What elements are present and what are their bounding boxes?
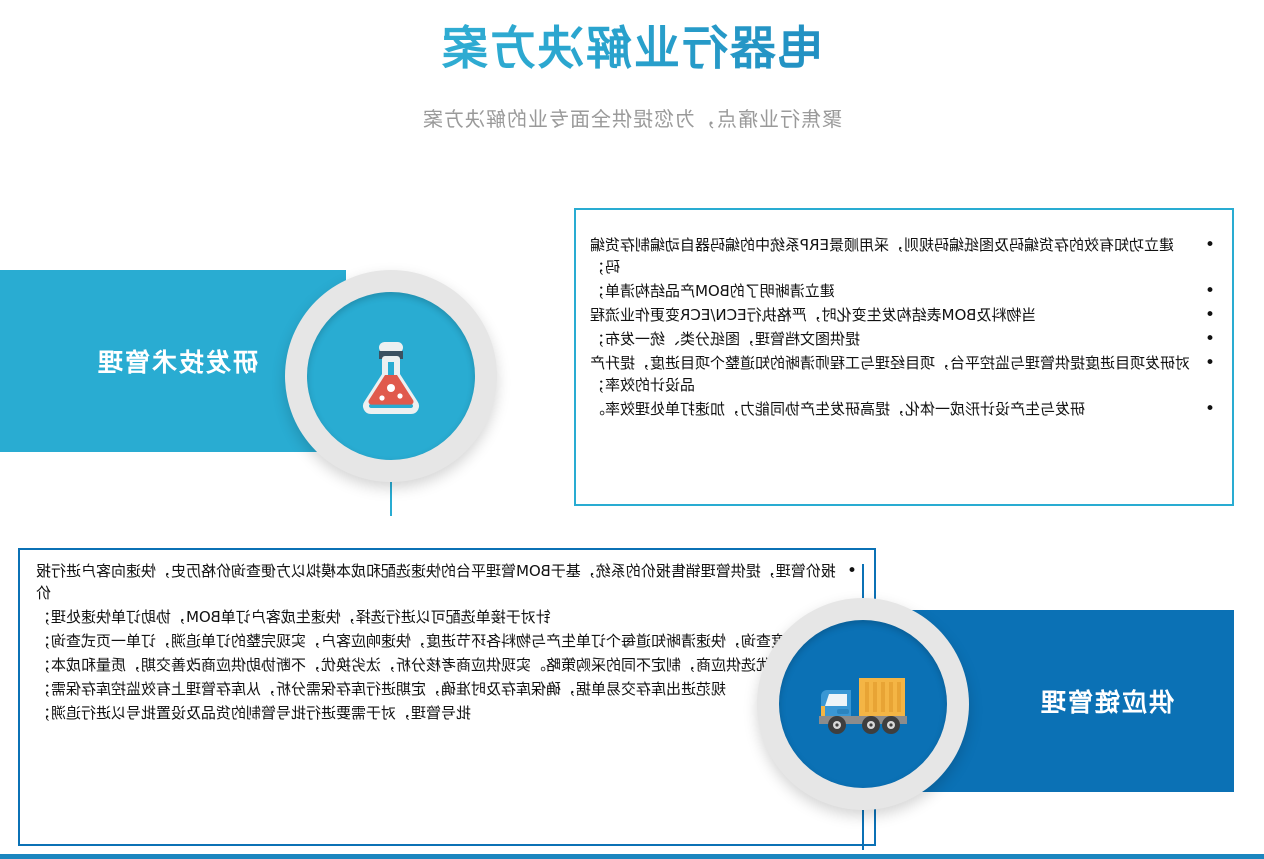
bullet-dot-icon: • bbox=[1202, 234, 1218, 256]
page-title: 电器行业解决方案 bbox=[0, 20, 1264, 78]
slide-canvas: 电器行业解决方案 聚焦行业痛点，为您提供全面专业的解决方案 • 建立功知有效的存… bbox=[0, 0, 1264, 859]
list-item: • 批号管理，对于需要进行批号管制的货品及设置批号以进行追溯； bbox=[36, 702, 860, 724]
list-item: • 针对于接单选配可以进行选择，快速生成客户订单BOM，协助订单快速处理； bbox=[36, 606, 860, 628]
bullet-dot-icon: • bbox=[1202, 398, 1218, 420]
section-label-supply-chain-management: 供应链管理 bbox=[1039, 683, 1174, 719]
truck-icon bbox=[813, 668, 913, 740]
section-label-rd-tech-management: 研发技术管理 bbox=[96, 343, 258, 379]
bullet-text: 针对于接单选配可以进行选择，快速生成客户订单BOM，协助订单快速处理； bbox=[36, 606, 844, 628]
section-medallion-rd-tech-management bbox=[285, 270, 497, 482]
list-item: • 规范进出库存交易单据，确保库存及时准确，定期进行库存保需分析，从库存管理上有… bbox=[36, 678, 860, 700]
connector-line-top bbox=[390, 482, 392, 516]
list-item: • 提供图文档管理，图纸分类、统一发布； bbox=[590, 328, 1218, 350]
bullet-text: 订单进度查询，快速清晰知道每个订单生产与物料各环节进度，快速响应客户，实现完整的… bbox=[36, 630, 844, 652]
bullet-dot-icon: • bbox=[1202, 328, 1218, 350]
bullet-dot-icon: • bbox=[1202, 304, 1218, 326]
bullet-dot-icon: • bbox=[1202, 280, 1218, 302]
footer-rule bbox=[0, 854, 1264, 859]
bullet-text: 规范进出库存交易单据，确保库存及时准确，定期进行库存保需分析，从库存管理上有效监… bbox=[36, 678, 844, 700]
connector-line-bottom-lower bbox=[862, 810, 864, 850]
section-medallion-supply-chain-management bbox=[757, 598, 969, 810]
list-item: • 订单进度查询，快速清晰知道每个订单生产与物料各环节进度，快速响应客户，实现完… bbox=[36, 630, 860, 652]
bullet-text: 提供图文档管理，图纸分类、统一发布； bbox=[590, 328, 1202, 350]
bullet-text: 当物料及BOM表结构发生变化时，严格执行ECN/ECR变更作业流程 bbox=[590, 304, 1202, 326]
bullet-dot-icon: • bbox=[844, 560, 860, 582]
page-subtitle: 聚焦行业痛点，为您提供全面专业的解决方案 bbox=[0, 103, 1264, 132]
bullet-dot-icon: • bbox=[1202, 352, 1218, 374]
bullet-text: 报价管理，提供管理销售报价的系统，基于BOM管理平台的快速选配和成本模拟以方便查… bbox=[36, 560, 844, 604]
bullet-text: 建立功知有效的存货编码及图纸编码规则，采用顺景ERP系统中的编码器自动编制存货编… bbox=[590, 234, 1202, 278]
bullet-text: 研发与生产设计形成一体化，提高研发生产协同能力，加速打单处理效率。 bbox=[590, 398, 1202, 420]
medallion-disc bbox=[307, 292, 475, 460]
bullet-text: 自动优选供应商，制定不同的采购策略。实现供应商考核分析，汰劣换优，不断协助供应商… bbox=[36, 654, 844, 676]
bullet-text: 批号管理，对于需要进行批号管制的货品及设置批号以进行追溯； bbox=[36, 702, 844, 724]
list-item: • 对研发项目进度提供管理与监控平台，项目经理与工程师清晰的知道整个项目进度，提… bbox=[590, 352, 1218, 396]
bullet-text: 对研发项目进度提供管理与监控平台，项目经理与工程师清晰的知道整个项目进度，提升产… bbox=[590, 352, 1202, 396]
bullet-list-supply-chain-management: • 报价管理，提供管理销售报价的系统，基于BOM管理平台的快速选配和成本模拟以方… bbox=[36, 560, 860, 726]
medallion-disc bbox=[779, 620, 947, 788]
bullet-list-rd-tech-management: • 建立功知有效的存货编码及图纸编码规则，采用顺景ERP系统中的编码器自动编制存… bbox=[590, 234, 1218, 422]
list-item: • 研发与生产设计形成一体化，提高研发生产协同能力，加速打单处理效率。 bbox=[590, 398, 1218, 420]
list-item: • 建立功知有效的存货编码及图纸编码规则，采用顺景ERP系统中的编码器自动编制存… bbox=[590, 234, 1218, 278]
list-item: • 当物料及BOM表结构发生变化时，严格执行ECN/ECR变更作业流程 bbox=[590, 304, 1218, 326]
bullet-text: 建立清晰明了的BOM产品结构清单； bbox=[590, 280, 1202, 302]
list-item: • 报价管理，提供管理销售报价的系统，基于BOM管理平台的快速选配和成本模拟以方… bbox=[36, 560, 860, 604]
flask-icon bbox=[345, 330, 437, 422]
list-item: • 自动优选供应商，制定不同的采购策略。实现供应商考核分析，汰劣换优，不断协助供… bbox=[36, 654, 860, 676]
list-item: • 建立清晰明了的BOM产品结构清单； bbox=[590, 280, 1218, 302]
